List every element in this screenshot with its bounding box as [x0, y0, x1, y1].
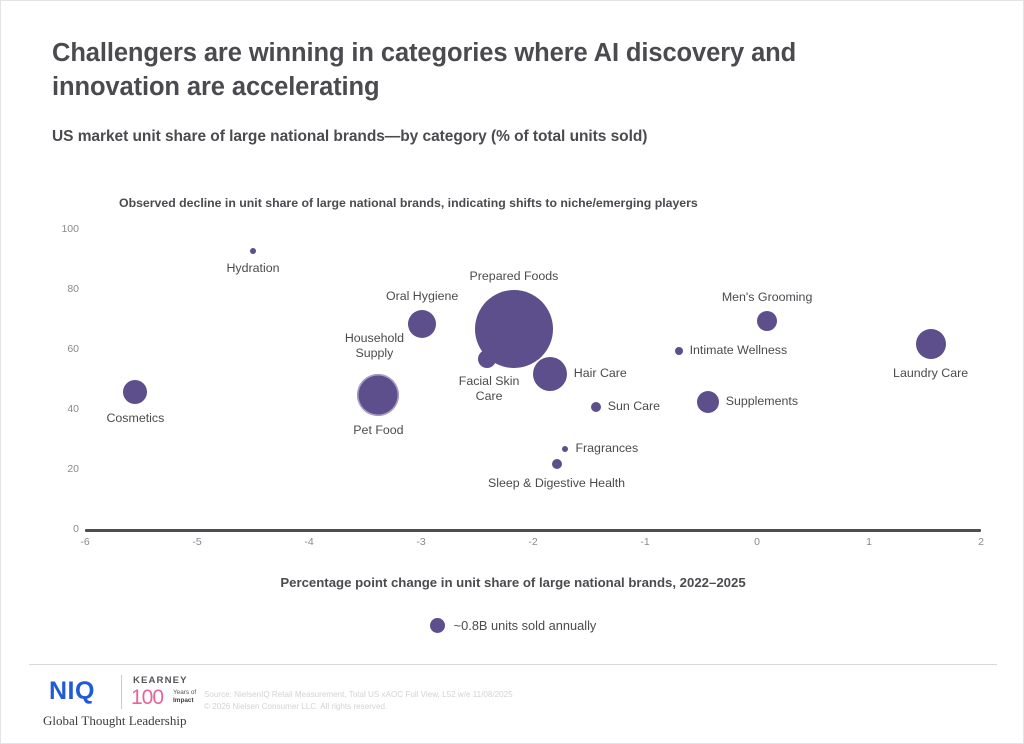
x-axis-tick: -6	[65, 536, 105, 548]
x-axis-tick: -4	[289, 536, 329, 548]
y-axis-tick: 40	[45, 403, 79, 415]
bubble-hair-care[interactable]	[533, 357, 567, 391]
chart-legend: ~0.8B units sold annually	[1, 618, 1024, 633]
bubble-label-oral-hygiene: Oral Hygiene	[386, 289, 458, 304]
legend-label: ~0.8B units sold annually	[454, 618, 597, 633]
bubble-cosmetics[interactable]	[123, 380, 147, 404]
bubble-label-hydration: Hydration	[226, 261, 279, 276]
bubble-label-men-s-grooming: Men's Grooming	[722, 290, 813, 305]
bubble-label-laundry-care: Laundry Care	[893, 366, 968, 381]
footer: NIQ KEARNEY 100 Years of Impact Global T…	[29, 669, 997, 739]
bubble-label-household-supply: HouseholdSupply	[345, 331, 404, 361]
slide: Challengers are winning in categories wh…	[0, 0, 1024, 744]
bubble-label-sun-care: Sun Care	[608, 399, 660, 414]
page-subtitle: US market unit share of large national b…	[52, 128, 952, 146]
chart-annotation: Observed decline in unit share of large …	[119, 196, 698, 210]
bubble-prepared-foods[interactable]	[475, 290, 553, 368]
x-axis-tick: -1	[625, 536, 665, 548]
source-line-2: © 2026 Nielsen Consumer LLC. All rights …	[204, 702, 387, 711]
y-axis-tick: 20	[45, 463, 79, 475]
kearney-wordmark: KEARNEY	[133, 675, 188, 686]
bubble-facial-skin-care[interactable]	[478, 350, 496, 368]
x-axis-title: Percentage point change in unit share of…	[1, 575, 1024, 590]
bubble-oral-hygiene[interactable]	[408, 310, 436, 338]
bubble-sleep-digestive-health[interactable]	[552, 459, 562, 469]
kearney-impact-label: Impact	[173, 697, 194, 704]
x-axis-tick: -3	[401, 536, 441, 548]
bubble-label-pet-food: Pet Food	[353, 423, 403, 438]
bubble-label-fragrances: Fragrances	[575, 441, 638, 456]
x-axis-tick: 2	[961, 536, 1001, 548]
legend-circle-icon	[430, 618, 445, 633]
bubble-laundry-care[interactable]	[916, 329, 946, 359]
bubble-hydration[interactable]	[250, 248, 256, 254]
y-axis-tick: 60	[45, 343, 79, 355]
bubble-label-supplements: Supplements	[726, 394, 798, 409]
x-axis-tick: -2	[513, 536, 553, 548]
source-line-1: Source: NielsenIQ Retail Measurement, To…	[204, 690, 513, 699]
y-axis-tick: 100	[45, 223, 79, 235]
footer-divider	[29, 664, 997, 665]
x-axis-tick: 1	[849, 536, 889, 548]
bubble-men-s-grooming[interactable]	[757, 311, 777, 331]
kearney-100-number: 100	[131, 686, 163, 710]
x-axis-tick: -5	[177, 536, 217, 548]
bubble-supplements[interactable]	[697, 391, 719, 413]
page-title: Challengers are winning in categories wh…	[52, 37, 912, 104]
bubble-label-sleep-digestive-health: Sleep & Digestive Health	[488, 476, 625, 491]
bubble-pet-food[interactable]	[357, 374, 399, 416]
y-axis-tick: 80	[45, 283, 79, 295]
y-axis-tick: 0	[45, 523, 79, 535]
logo-divider	[121, 675, 122, 709]
bubble-sun-care[interactable]	[591, 402, 601, 412]
bubble-fragrances[interactable]	[562, 446, 568, 452]
niq-logo: NIQ	[49, 677, 95, 706]
bubble-label-intimate-wellness: Intimate Wellness	[690, 343, 788, 358]
bubble-label-prepared-foods: Prepared Foods	[470, 269, 559, 284]
bubble-label-hair-care: Hair Care	[574, 366, 627, 381]
bubble-label-facial-skin-care: Facial SkinCare	[459, 374, 520, 404]
bubble-intimate-wellness[interactable]	[675, 347, 683, 355]
kearney-years-label: Years of	[173, 689, 196, 696]
bubble-label-cosmetics: Cosmetics	[106, 411, 164, 426]
x-axis-line	[85, 529, 981, 532]
kearney-years-impact: Years of Impact	[173, 689, 196, 705]
x-axis-tick: 0	[737, 536, 777, 548]
source-note: Source: NielsenIQ Retail Measurement, To…	[204, 689, 513, 712]
global-thought-leadership-tagline: Global Thought Leadership	[43, 713, 186, 729]
